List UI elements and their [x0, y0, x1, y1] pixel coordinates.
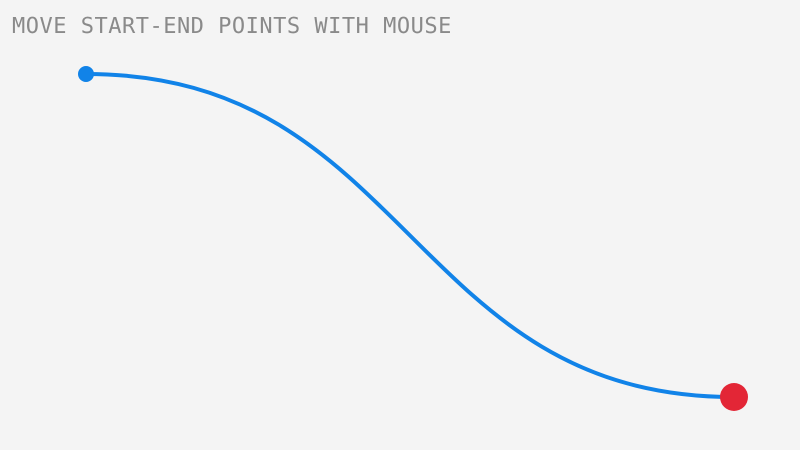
page-title: MOVE START-END POINTS WITH MOUSE: [12, 14, 452, 40]
end-point-handle[interactable]: [720, 383, 748, 411]
start-point-handle[interactable]: [78, 66, 94, 82]
bezier-curve-canvas[interactable]: [0, 0, 800, 450]
bezier-canvas-stage[interactable]: MOVE START-END POINTS WITH MOUSE: [0, 0, 800, 450]
